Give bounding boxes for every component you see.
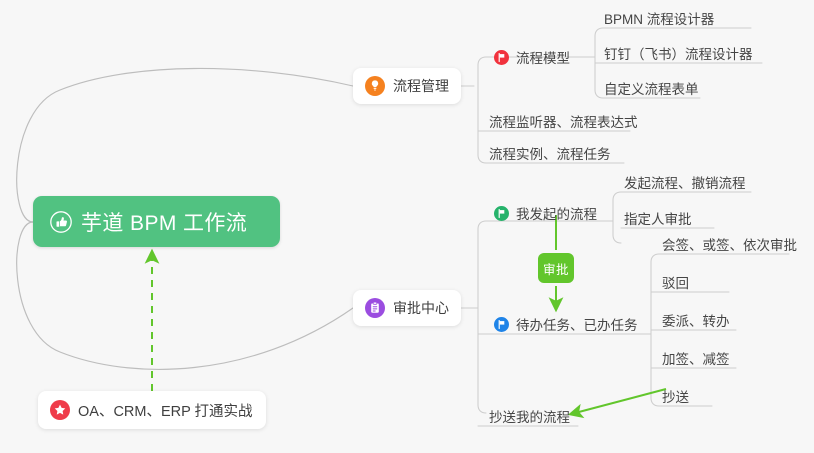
leaf-countersign[interactable]: 会签、或签、依次审批 (662, 235, 797, 257)
branch-node-flow-management[interactable]: 流程管理 (353, 68, 461, 104)
lightbulb-icon (365, 76, 385, 96)
leaf-dingtalk-designer[interactable]: 钉钉（飞书）流程设计器 (604, 44, 753, 66)
branch-node-approval-center[interactable]: 审批中心 (353, 290, 461, 326)
leaf-reject[interactable]: 驳回 (662, 273, 689, 295)
item-label-my-initiated: 我发起的流程 (516, 203, 597, 223)
leaf-assignee-approval[interactable]: 指定人审批 (624, 209, 692, 231)
item-process-model[interactable]: 流程模型 (494, 46, 570, 68)
leaf-custom-form[interactable]: 自定义流程表单 (604, 79, 699, 101)
leaf-process-listener[interactable]: 流程监听器、流程表达式 (489, 112, 638, 134)
mindmap-canvas: 芋道 BPM 工作流 流程管理 审批中心 (0, 0, 814, 453)
branch-label-flow-management: 流程管理 (393, 76, 449, 96)
root-node[interactable]: 芋道 BPM 工作流 (33, 196, 280, 247)
flag-icon (494, 206, 509, 221)
leaf-add-remove-sign[interactable]: 加签、减签 (662, 349, 730, 371)
flag-icon (494, 317, 509, 332)
leaf-process-instance[interactable]: 流程实例、流程任务 (489, 144, 611, 166)
approve-badge: 审批 (538, 253, 574, 283)
root-label: 芋道 BPM 工作流 (81, 207, 247, 237)
leaf-start-cancel-process[interactable]: 发起流程、撤销流程 (624, 173, 746, 195)
leaf-carbon-copy[interactable]: 抄送 (662, 387, 689, 409)
thumbs-up-icon (50, 211, 72, 233)
leaf-bpmn-designer[interactable]: BPMN 流程设计器 (604, 9, 714, 31)
clipboard-icon (365, 298, 385, 318)
item-my-initiated[interactable]: 我发起的流程 (494, 202, 597, 224)
star-icon (50, 400, 70, 420)
item-todo-done-tasks[interactable]: 待办任务、已办任务 (494, 313, 638, 335)
integration-node[interactable]: OA、CRM、ERP 打通实战 (38, 391, 266, 429)
item-label-process-model: 流程模型 (516, 47, 570, 67)
cc-link-arrow (575, 389, 666, 413)
leaf-cc-to-me[interactable]: 抄送我的流程 (489, 407, 570, 429)
leaf-delegate-transfer[interactable]: 委派、转办 (662, 311, 730, 333)
item-label-todo-done-tasks: 待办任务、已办任务 (516, 314, 638, 334)
branch-label-approval-center: 审批中心 (393, 298, 449, 318)
integration-node-label: OA、CRM、ERP 打通实战 (78, 400, 253, 421)
flag-icon (494, 50, 509, 65)
